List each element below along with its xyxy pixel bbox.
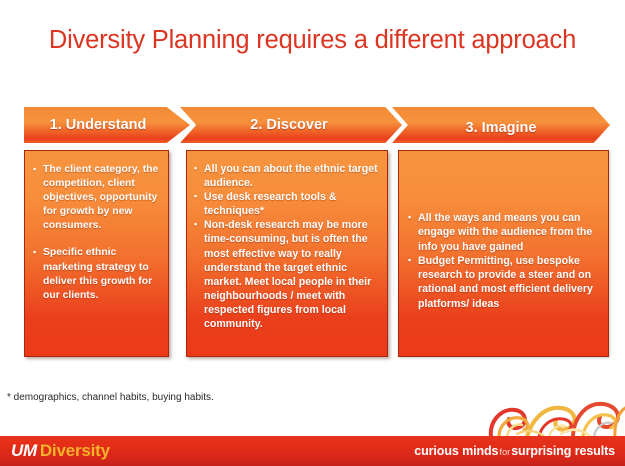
process-step-header-discover[interactable]: 2. Discover (180, 107, 402, 143)
decorative-swirl-graphic (487, 396, 625, 438)
process-step-body-understand: The client category, the competition, cl… (24, 150, 169, 357)
process-step-body-discover: All you can about the ethnic target audi… (186, 150, 388, 357)
logo-diversity-text: Diversity (40, 441, 110, 460)
process-step-header-imagine[interactable]: 3. Imagine (392, 107, 610, 143)
tagline-part-two: surprising results (511, 444, 615, 458)
process-step-header-understand[interactable]: 1. Understand (24, 107, 190, 143)
bullet-list: The client category, the competition, cl… (25, 151, 168, 303)
tagline-for-word: for (499, 447, 510, 458)
process-step-header-label: 2. Discover (250, 117, 327, 133)
footer-tagline: curious mindsforsurprising results (414, 444, 615, 458)
list-item: Specific ethnic marketing strategy to de… (32, 246, 160, 302)
page-title: Diversity Planning requires a different … (0, 26, 625, 55)
tagline-part-one: curious minds (414, 444, 498, 458)
um-diversity-logo: UMDiversity (11, 442, 110, 460)
footnote-text: * demographics, channel habits, buying h… (7, 392, 214, 403)
logo-um-text: UM (11, 441, 37, 460)
list-item: Use desk research tools & techniques* (193, 190, 379, 218)
slide-canvas: Diversity Planning requires a different … (0, 0, 625, 466)
footer-bar: UMDiversity curious mindsforsurprising r… (0, 436, 625, 466)
list-item: All you can about the ethnic target audi… (193, 162, 379, 190)
list-item: All the ways and means you can engage wi… (407, 211, 600, 254)
process-step-body-imagine: All the ways and means you can engage wi… (398, 150, 609, 357)
list-item: The client category, the competition, cl… (32, 163, 160, 233)
list-item: Budget Permitting, use bespoke research … (407, 254, 600, 311)
bullet-list: All the ways and means you can engage wi… (399, 151, 608, 311)
process-step-header-label: 1. Understand (50, 117, 147, 133)
process-step-header-label: 3. Imagine (466, 120, 537, 136)
list-item: Non-desk research may be more time-consu… (193, 218, 379, 331)
bullet-list: All you can about the ethnic target audi… (187, 151, 387, 331)
